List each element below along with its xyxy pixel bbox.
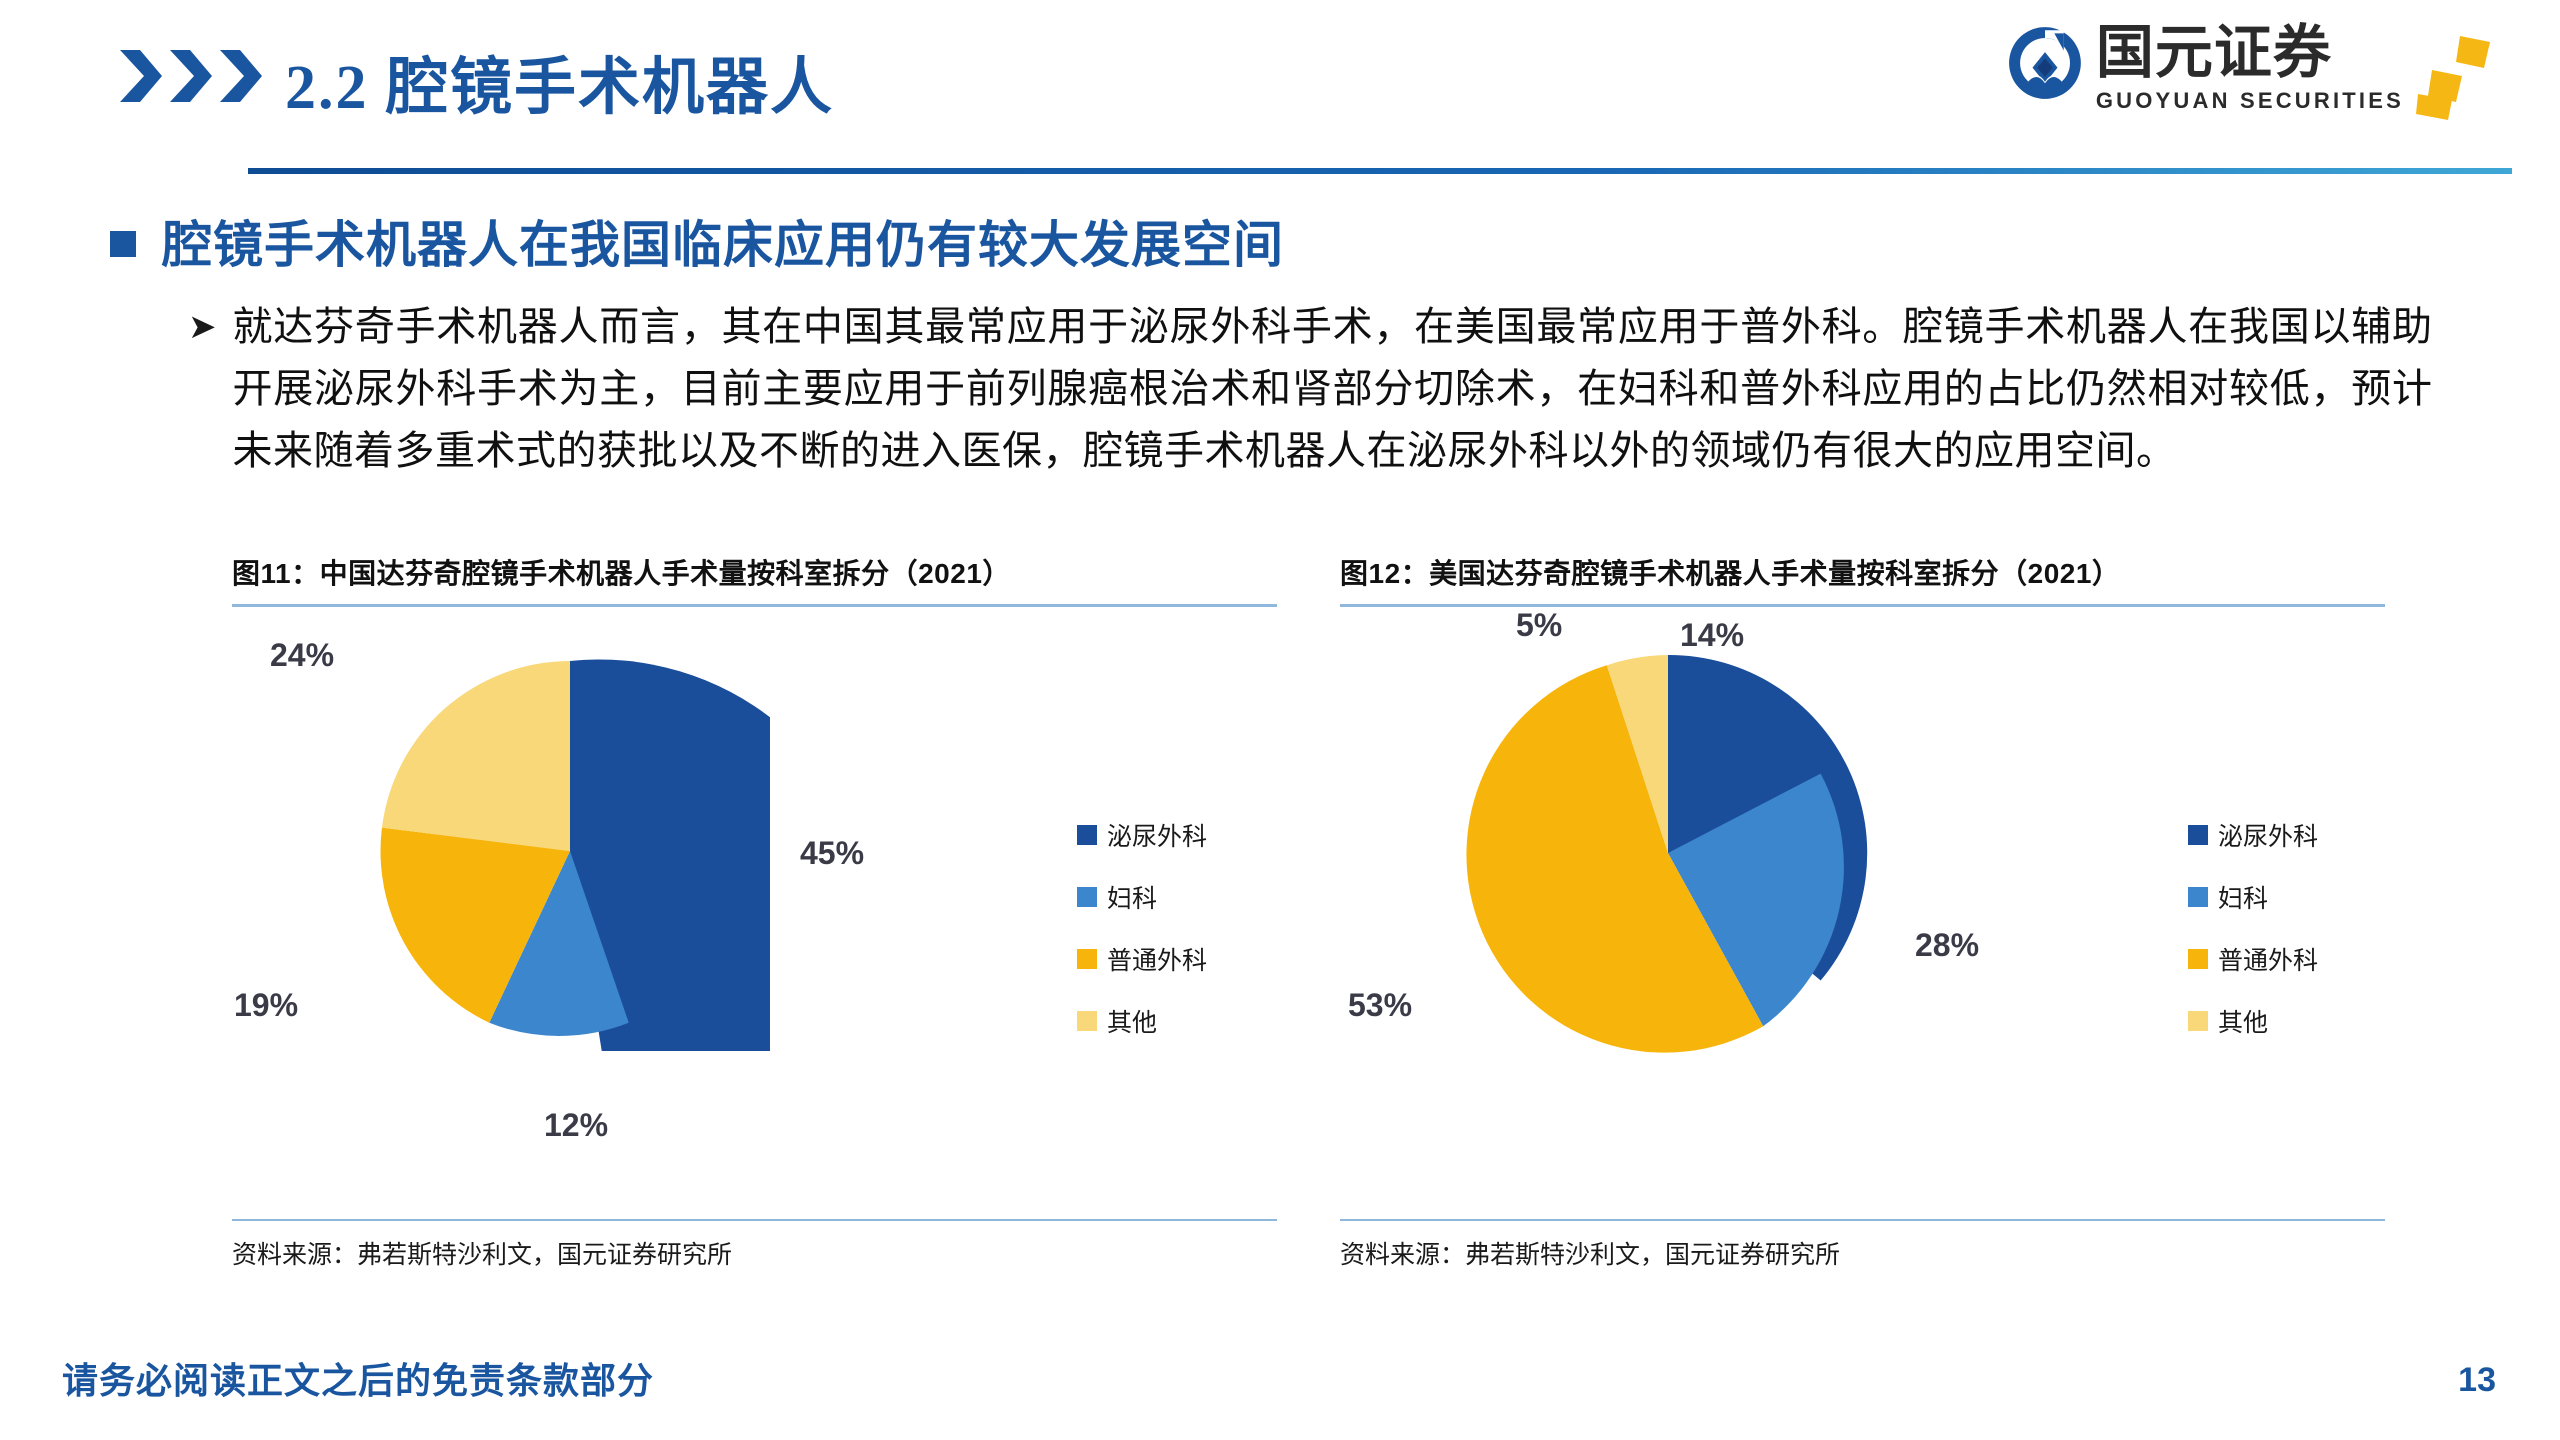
slide-header: 2.2 腔镜手术机器人 国元证券 GUOYUAN SECURITIES [0, 0, 2560, 175]
pie-label-28: 28% [1915, 927, 1979, 964]
pie-slice-other[interactable] [382, 661, 570, 851]
header-divider [248, 168, 2512, 174]
legend-label: 普通外科 [2218, 941, 2318, 977]
chevron-right-icon [118, 48, 162, 104]
chart-legend: 泌尿外科 妇科 普通外科 其他 [1077, 817, 1207, 1039]
company-logo: 国元证券 GUOYUAN SECURITIES [2006, 22, 2498, 114]
pie-label-5: 5% [1516, 607, 1562, 644]
chart-source-note: 资料来源：弗若斯特沙利文，国元证券研究所 [232, 1235, 1277, 1271]
chart-source-note: 资料来源：弗若斯特沙利文，国元证券研究所 [1340, 1235, 2385, 1271]
legend-label: 普通外科 [1107, 941, 1207, 977]
chart-title: 图11：中国达芬奇腔镜手术机器人手术量按科室拆分（2021） [232, 552, 1277, 592]
legend-swatch-icon [1077, 825, 1097, 845]
pie-label-24: 24% [270, 637, 334, 674]
pie-chart-china [370, 651, 770, 1051]
legend-label: 其他 [1107, 1003, 1157, 1039]
section-heading: 腔镜手术机器人在我国临床应用仍有较大发展空间 [110, 205, 1284, 277]
chevron-right-icon [218, 48, 262, 104]
chart-footer-divider [232, 1219, 1277, 1221]
pie-label-45: 45% [800, 835, 864, 872]
legend-item-general-surgery[interactable]: 普通外科 [2188, 941, 2318, 977]
legend-item-urology[interactable]: 泌尿外科 [1077, 817, 1207, 853]
legend-swatch-icon [2188, 949, 2208, 969]
legend-item-urology[interactable]: 泌尿外科 [2188, 817, 2318, 853]
logo-name-cn: 国元证券 [2096, 22, 2404, 84]
pie-label-14: 14% [1680, 617, 1744, 654]
logo-text: 国元证券 GUOYUAN SECURITIES [2096, 22, 2404, 114]
pie-chart-usa [1458, 643, 1878, 1063]
square-bullet-icon [110, 231, 136, 257]
chart-legend: 泌尿外科 妇科 普通外科 其他 [2188, 817, 2318, 1039]
legend-swatch-icon [2188, 1011, 2208, 1031]
chart-panel-china: 图11：中国达芬奇腔镜手术机器人手术量按科室拆分（2021） 45% 12% 1… [232, 552, 1277, 1292]
legend-label: 泌尿外科 [2218, 817, 2318, 853]
slide-root: 2.2 腔镜手术机器人 国元证券 GUOYUAN SECURITIES [0, 0, 2560, 1440]
body-paragraph: ➤ 就达芬奇手术机器人而言，其在中国其最常应用于泌尿外科手术，在美国最常应用于普… [188, 296, 2468, 482]
chart-body: 14% 28% 53% 5% 泌尿外科 妇科 普通外科 [1340, 607, 2385, 1219]
legend-item-gynecology[interactable]: 妇科 [2188, 879, 2318, 915]
legend-label: 妇科 [1107, 879, 1157, 915]
legend-label: 其他 [2218, 1003, 2268, 1039]
legend-item-gynecology[interactable]: 妇科 [1077, 879, 1207, 915]
legend-item-other[interactable]: 其他 [2188, 1003, 2318, 1039]
logo-name-en: GUOYUAN SECURITIES [2096, 88, 2404, 114]
legend-swatch-icon [2188, 825, 2208, 845]
legend-swatch-icon [2188, 887, 2208, 907]
legend-label: 妇科 [2218, 879, 2268, 915]
yellow-stars-icon [2412, 34, 2498, 120]
legend-label: 泌尿外科 [1107, 817, 1207, 853]
chart-title: 图12：美国达芬奇腔镜手术机器人手术量按科室拆分（2021） [1340, 552, 2385, 592]
legend-swatch-icon [1077, 949, 1097, 969]
chart-footer-divider [1340, 1219, 2385, 1221]
triangle-bullet-icon: ➤ [188, 296, 217, 482]
legend-swatch-icon [1077, 1011, 1097, 1031]
chart-body: 45% 12% 19% 24% 泌尿外科 妇科 普通外科 [232, 607, 1277, 1219]
section-heading-text: 腔镜手术机器人在我国临床应用仍有较大发展空间 [162, 205, 1284, 277]
legend-swatch-icon [1077, 887, 1097, 907]
chevron-right-icon [168, 48, 212, 104]
legend-item-general-surgery[interactable]: 普通外科 [1077, 941, 1207, 977]
pie-label-19: 19% [234, 987, 298, 1024]
chevrons-right-icon [118, 48, 262, 104]
page-title: 2.2 腔镜手术机器人 [285, 36, 834, 126]
page-number: 13 [2458, 1361, 2496, 1400]
body-paragraph-text: 就达芬奇手术机器人而言，其在中国其最常应用于泌尿外科手术，在美国最常应用于普外科… [233, 296, 2433, 482]
legend-item-other[interactable]: 其他 [1077, 1003, 1207, 1039]
pie-label-12: 12% [544, 1107, 608, 1144]
pie-label-53: 53% [1348, 987, 1412, 1024]
chart-panel-usa: 图12：美国达芬奇腔镜手术机器人手术量按科室拆分（2021） 14% 28% 5… [1340, 552, 2385, 1292]
footer-disclaimer: 请务必阅读正文之后的免责条款部分 [62, 1352, 654, 1404]
guoyuan-circle-logo-icon [2006, 24, 2084, 102]
